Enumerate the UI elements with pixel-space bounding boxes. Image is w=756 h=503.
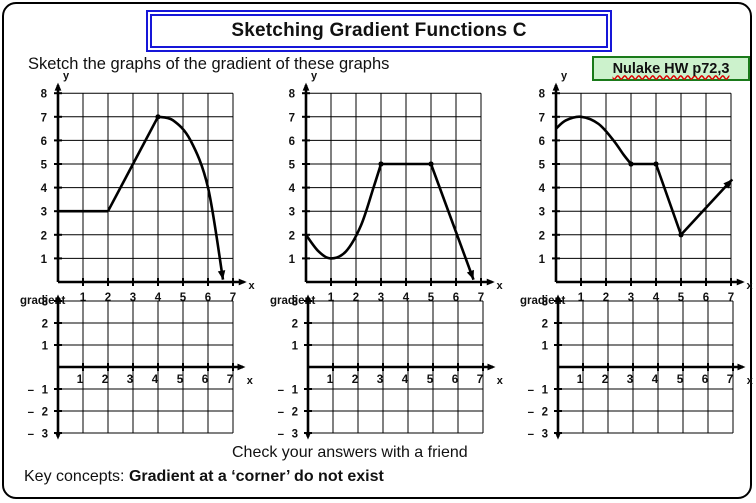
svg-text:5: 5	[289, 160, 296, 172]
svg-text:–: –	[278, 407, 285, 419]
svg-text:1: 1	[42, 341, 49, 353]
svg-text:2: 2	[602, 374, 608, 386]
check-answers-note: Check your answers with a friend	[232, 444, 468, 462]
svg-text:1: 1	[577, 374, 584, 386]
svg-text:3: 3	[292, 429, 298, 441]
svg-text:1: 1	[542, 341, 549, 353]
svg-text:1: 1	[327, 374, 334, 386]
graph-panel-2: 123456781234567xy	[272, 76, 507, 291]
svg-text:3: 3	[542, 297, 548, 309]
answer-panel-1[interactable]: gradient1231–2–3–1234567x	[18, 290, 258, 440]
ticks: 123456781234567	[41, 89, 237, 304]
svg-text:7: 7	[289, 112, 295, 124]
svg-text:4: 4	[152, 374, 159, 386]
svg-text:–: –	[28, 429, 35, 441]
svg-text:2: 2	[42, 319, 48, 331]
svg-text:3: 3	[127, 374, 133, 386]
svg-text:5: 5	[539, 160, 546, 172]
grid	[556, 93, 731, 282]
svg-text:2: 2	[41, 230, 47, 242]
slide-frame: Sketching Gradient Functions C Sketch th…	[2, 2, 752, 499]
svg-text:2: 2	[539, 230, 545, 242]
svg-text:2: 2	[289, 230, 295, 242]
svg-text:5: 5	[677, 374, 684, 386]
svg-text:8: 8	[41, 89, 48, 101]
svg-text:4: 4	[539, 183, 546, 195]
svg-text:x: x	[497, 375, 504, 387]
svg-text:–: –	[528, 385, 535, 397]
key-concepts-label: Key concepts:	[24, 468, 129, 485]
svg-text:1: 1	[539, 254, 546, 266]
homework-badge-label: Nulake HW p72,3	[613, 61, 730, 77]
svg-text:1: 1	[42, 385, 49, 397]
svg-text:1: 1	[292, 341, 299, 353]
page-title: Sketching Gradient Functions C	[152, 16, 606, 46]
svg-text:1: 1	[41, 254, 48, 266]
svg-text:7: 7	[727, 374, 733, 386]
svg-text:y: y	[561, 70, 568, 82]
graph-panel-1: 123456781234567xy	[24, 76, 259, 291]
graph-1: 123456781234567xy	[24, 76, 259, 291]
svg-text:8: 8	[539, 89, 546, 101]
answer-grid-2: gradient1231–2–3–1234567x	[268, 290, 508, 440]
svg-text:5: 5	[427, 374, 434, 386]
svg-text:4: 4	[41, 183, 48, 195]
svg-text:2: 2	[102, 374, 108, 386]
svg-text:2: 2	[292, 319, 298, 331]
svg-text:3: 3	[289, 207, 295, 219]
svg-text:6: 6	[452, 374, 458, 386]
graph-3: 123456781234567xy	[522, 76, 756, 291]
instruction-text: Sketch the graphs of the gradient of the…	[28, 55, 389, 74]
svg-text:6: 6	[289, 136, 295, 148]
svg-text:–: –	[278, 429, 285, 441]
ticks: 123456781234567	[539, 89, 735, 304]
svg-text:7: 7	[41, 112, 47, 124]
grid	[306, 93, 481, 282]
ticks: 123456781234567	[289, 89, 485, 304]
svg-text:6: 6	[539, 136, 545, 148]
graph-2: 123456781234567xy	[272, 76, 507, 291]
svg-text:3: 3	[42, 429, 48, 441]
svg-text:–: –	[28, 407, 35, 419]
svg-text:5: 5	[177, 374, 184, 386]
svg-text:3: 3	[627, 374, 633, 386]
svg-text:–: –	[528, 429, 535, 441]
svg-text:x: x	[747, 375, 754, 387]
svg-text:6: 6	[702, 374, 708, 386]
svg-text:3: 3	[292, 297, 298, 309]
svg-text:3: 3	[542, 429, 548, 441]
svg-text:–: –	[28, 385, 35, 397]
svg-text:x: x	[247, 375, 254, 387]
svg-text:5: 5	[41, 160, 48, 172]
svg-text:3: 3	[539, 207, 545, 219]
svg-text:y: y	[311, 70, 318, 82]
svg-text:4: 4	[402, 374, 409, 386]
svg-text:3: 3	[42, 297, 48, 309]
svg-text:1: 1	[542, 385, 549, 397]
svg-text:8: 8	[289, 89, 296, 101]
svg-text:2: 2	[542, 319, 548, 331]
svg-text:2: 2	[542, 407, 548, 419]
svg-text:3: 3	[41, 207, 47, 219]
answer-panel-3[interactable]: gradient1231–2–3–1234567x	[518, 290, 756, 440]
svg-text:6: 6	[202, 374, 208, 386]
svg-text:7: 7	[227, 374, 233, 386]
svg-text:–: –	[278, 385, 285, 397]
svg-text:6: 6	[41, 136, 47, 148]
key-concepts-text: Gradient at a ‘corner’ do not exist	[129, 468, 384, 485]
answer-panel-2[interactable]: gradient1231–2–3–1234567x	[268, 290, 508, 440]
svg-text:4: 4	[289, 183, 296, 195]
svg-text:7: 7	[539, 112, 545, 124]
answer-grid-3: gradient1231–2–3–1234567x	[518, 290, 756, 440]
answer-grid-1: gradient1231–2–3–1234567x	[18, 290, 258, 440]
svg-text:–: –	[528, 407, 535, 419]
svg-text:3: 3	[377, 374, 383, 386]
svg-text:y: y	[63, 70, 70, 82]
title-box: Sketching Gradient Functions C	[150, 14, 608, 48]
svg-text:1: 1	[289, 254, 296, 266]
svg-text:2: 2	[42, 407, 48, 419]
key-concepts-note: Key concepts: Gradient at a ‘corner’ do …	[24, 468, 384, 486]
svg-text:7: 7	[477, 374, 483, 386]
svg-text:4: 4	[652, 374, 659, 386]
svg-text:2: 2	[352, 374, 358, 386]
svg-text:1: 1	[77, 374, 84, 386]
svg-text:2: 2	[292, 407, 298, 419]
graph-panel-3: 123456781234567xy	[522, 76, 756, 291]
svg-text:1: 1	[292, 385, 299, 397]
